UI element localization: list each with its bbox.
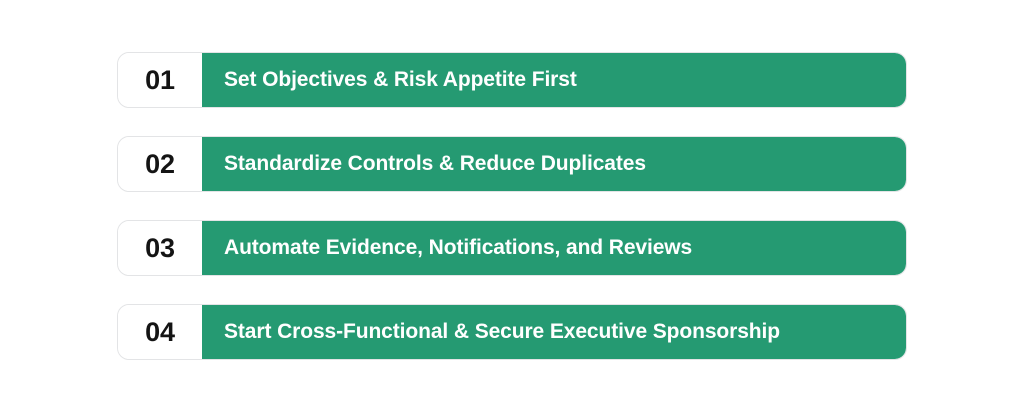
- step-bar: Set Objectives & Risk Appetite First: [202, 53, 906, 107]
- step-bar: Automate Evidence, Notifications, and Re…: [202, 221, 906, 275]
- step-number: 03: [145, 235, 175, 262]
- step-number: 01: [145, 67, 175, 94]
- step-label: Set Objectives & Risk Appetite First: [224, 68, 577, 91]
- step-number-badge: 01: [118, 53, 202, 107]
- step-label: Start Cross-Functional & Secure Executiv…: [224, 320, 780, 343]
- list-item[interactable]: 03 Automate Evidence, Notifications, and…: [118, 221, 906, 275]
- step-number: 04: [145, 319, 175, 346]
- step-number-badge: 04: [118, 305, 202, 359]
- step-number-badge: 02: [118, 137, 202, 191]
- step-number-badge: 03: [118, 221, 202, 275]
- step-bar: Standardize Controls & Reduce Duplicates: [202, 137, 906, 191]
- step-label: Standardize Controls & Reduce Duplicates: [224, 152, 646, 175]
- step-bar: Start Cross-Functional & Secure Executiv…: [202, 305, 906, 359]
- step-number: 02: [145, 151, 175, 178]
- list-item[interactable]: 01 Set Objectives & Risk Appetite First: [118, 53, 906, 107]
- step-label: Automate Evidence, Notifications, and Re…: [224, 236, 692, 259]
- list-item[interactable]: 04 Start Cross-Functional & Secure Execu…: [118, 305, 906, 359]
- list-item[interactable]: 02 Standardize Controls & Reduce Duplica…: [118, 137, 906, 191]
- numbered-steps-list: 01 Set Objectives & Risk Appetite First …: [118, 53, 906, 359]
